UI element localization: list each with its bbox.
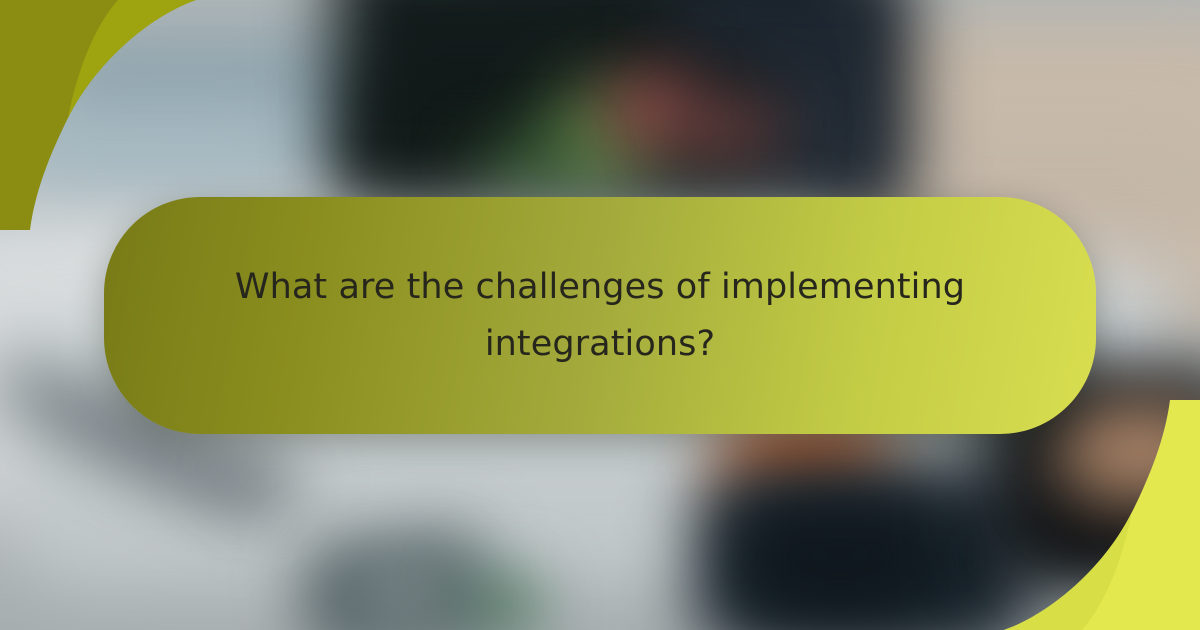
question-card: What are the challenges of implementing … [104,197,1096,434]
question-text: What are the challenges of implementing … [210,259,990,372]
banner-stage: What are the challenges of implementing … [0,0,1200,630]
